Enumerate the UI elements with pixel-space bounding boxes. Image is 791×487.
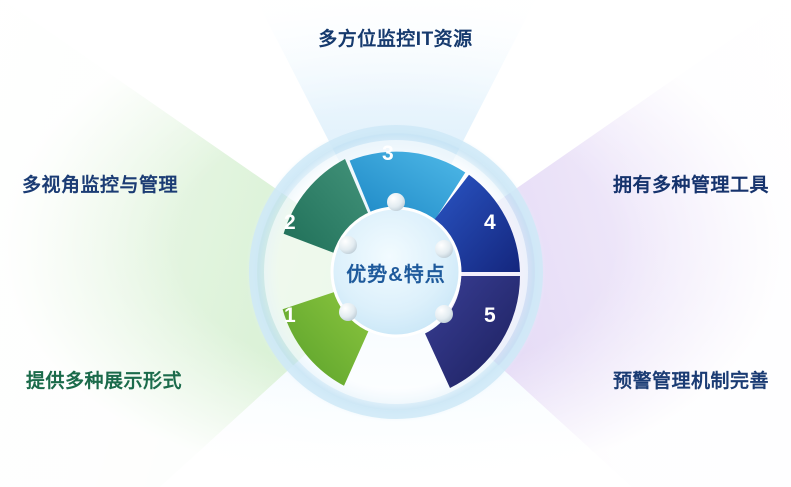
ring-diagram-svg bbox=[236, 112, 556, 432]
ring-diagram: 优势&特点 3 2 1 4 5 bbox=[236, 112, 556, 432]
dot-4 bbox=[435, 240, 453, 258]
dot-2 bbox=[339, 236, 357, 254]
dot-5 bbox=[435, 305, 453, 323]
label-left-top: 多视角监控与管理 bbox=[22, 170, 178, 197]
dot-1 bbox=[339, 303, 357, 321]
label-left-bottom: 提供多种展示形式 bbox=[26, 366, 182, 393]
label-top: 多方位监控IT资源 bbox=[0, 24, 791, 51]
label-right-top: 拥有多种管理工具 bbox=[613, 170, 769, 197]
diagram-canvas: 优势&特点 3 2 1 4 5 多方位监控IT资源 多视角监控与管理 提供多种展… bbox=[0, 0, 791, 487]
label-right-bottom: 预警管理机制完善 bbox=[613, 366, 769, 393]
dot-3 bbox=[387, 193, 405, 211]
